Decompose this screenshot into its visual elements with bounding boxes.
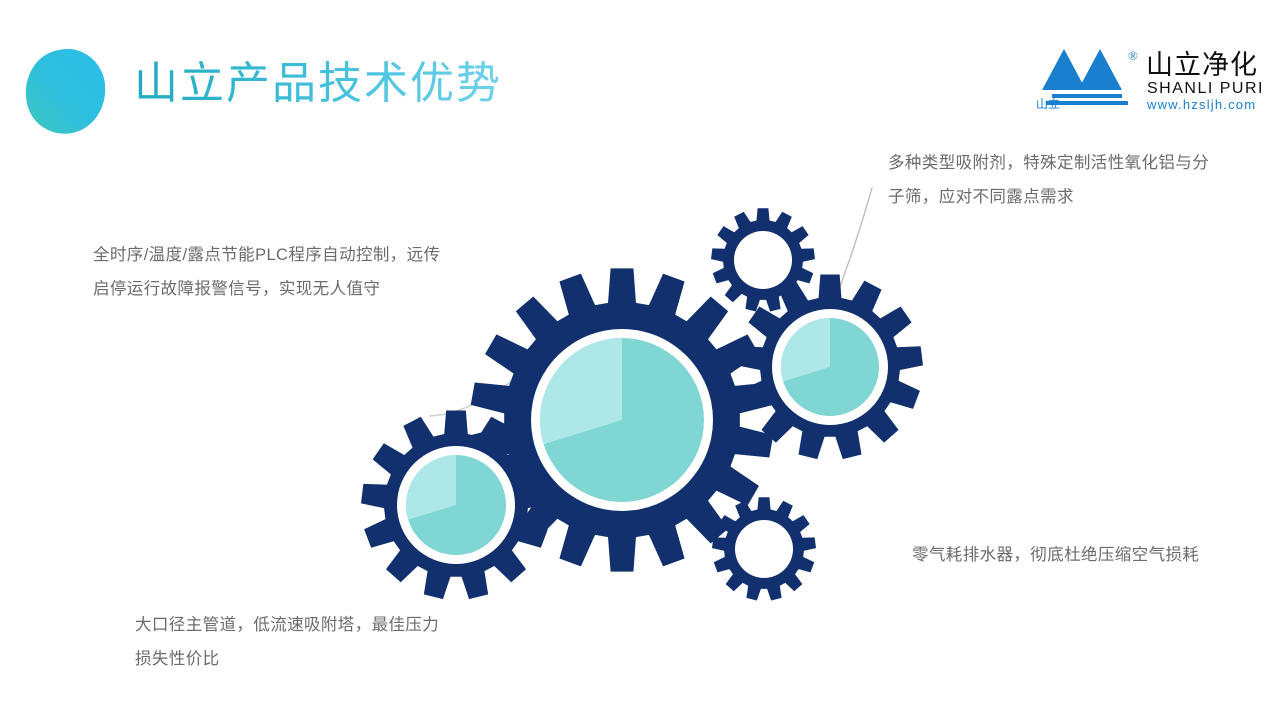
title-blob-decoration — [24, 48, 106, 134]
slide-canvas: 山立产品技术优势 ® 山立 山立净化 SHANLI PURIFY www.hzs… — [0, 0, 1280, 720]
gear-body-bottom-small — [712, 497, 816, 600]
gear-hole-bottom-small — [735, 520, 793, 578]
gear-ring-main — [531, 329, 713, 511]
gear-body-left — [361, 411, 551, 600]
gear-ring-right — [772, 309, 888, 425]
gear-hole-top-small — [734, 231, 792, 289]
callout-drain: 零气耗排水器，彻底杜绝压缩空气损耗 — [912, 538, 1232, 572]
gear-body-right — [737, 275, 923, 460]
gear-hub-wedge-left — [406, 455, 456, 520]
gear-body-top-small — [711, 208, 815, 311]
brand-logo: ® 山立 山立净化 SHANLI PURIFY www.hzsljh.com — [1034, 42, 1262, 114]
logo-website: www.hzsljh.com — [1146, 97, 1256, 112]
gear-hub-main — [540, 338, 704, 502]
gear-hub-wedge-right — [781, 318, 830, 381]
leader-line-adsorbent — [829, 188, 872, 316]
callout-pipe: 大口径主管道，低流速吸附塔，最佳压力损失性价比 — [135, 608, 445, 676]
logo-registered-mark: ® — [1128, 48, 1138, 63]
gear-hub-right — [781, 318, 879, 416]
gear-hub-left — [406, 455, 506, 555]
gear-hub-wedge-main — [540, 338, 622, 444]
logo-en-name: SHANLI PURIFY — [1147, 80, 1262, 97]
callout-plc: 全时序/温度/露点节能PLC程序自动控制，远传启停运行故障报警信号，实现无人值守 — [93, 238, 445, 306]
logo-cn-name: 山立净化 — [1146, 50, 1258, 80]
gear-ring-left — [397, 446, 515, 564]
logo-mark-label: 山立 — [1036, 96, 1060, 111]
gear-body-main — [471, 268, 774, 571]
gear-group — [361, 208, 923, 600]
leader-line-plc — [430, 344, 556, 416]
page-title: 山立产品技术优势 — [134, 54, 502, 114]
callout-adsorbent: 多种类型吸附剂，特殊定制活性氧化铝与分子筛，应对不同露点需求 — [888, 146, 1218, 214]
